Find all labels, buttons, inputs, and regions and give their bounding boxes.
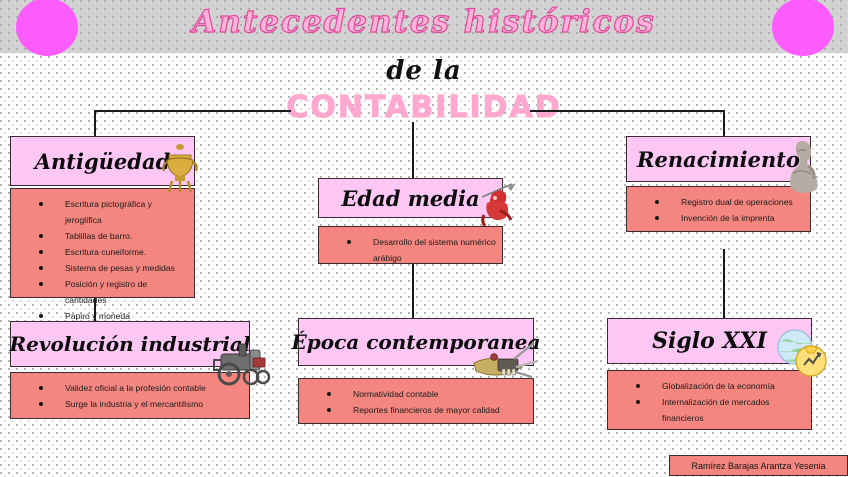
list-item: Tablillas de barro. bbox=[39, 228, 190, 244]
node-revolucion-industrial-header: Revolución industrial bbox=[10, 321, 250, 367]
node-renacimiento-list: Registro dual de operaciones Invención d… bbox=[637, 194, 806, 226]
node-siglo-xxi-header: Siglo XXI bbox=[607, 318, 812, 364]
connector-right-vertical-bottom bbox=[723, 249, 725, 318]
connector-right-vertical-top bbox=[723, 110, 725, 136]
node-edad-media-title: Edad media bbox=[341, 188, 479, 209]
node-renacimiento-header: Renacimiento bbox=[626, 136, 811, 182]
node-siglo-xxi-title: Siglo XXI bbox=[652, 330, 767, 352]
list-item: Invención de la imprenta bbox=[655, 210, 806, 226]
node-siglo-xxi: Siglo XXI Globalización de la economía I… bbox=[607, 318, 812, 430]
list-item: Escritura pictográfica y jeroglífica bbox=[39, 196, 190, 228]
page-title: Antecedentes históricos bbox=[0, 4, 848, 40]
list-item: Normatividad contable bbox=[327, 386, 529, 402]
node-revolucion-industrial: Revolución industrial Validez oficial a … bbox=[10, 321, 250, 419]
node-revolucion-industrial-body: Validez oficial a la profesión contable … bbox=[10, 372, 250, 419]
list-item: Validez oficial a la profesión contable bbox=[39, 380, 245, 396]
node-edad-media-list: Desarrollo del sistema numérico arábigo bbox=[329, 234, 498, 266]
connector-top-left-horizontal bbox=[94, 110, 291, 112]
list-item: Surge la industria y el mercantilismo bbox=[39, 396, 245, 412]
node-edad-media: Edad media Desarrollo del sistema numéri… bbox=[318, 178, 503, 264]
node-siglo-xxi-body: Globalización de la economía Internaliza… bbox=[607, 370, 812, 430]
connector-center-vertical-top bbox=[412, 122, 414, 178]
node-edad-media-header: Edad media bbox=[318, 178, 503, 218]
subtitle-contabilidad: CONTABILIDAD bbox=[0, 90, 848, 125]
node-revolucion-industrial-list: Validez oficial a la profesión contable … bbox=[21, 380, 245, 412]
list-item: Desarrollo del sistema numérico arábigo bbox=[347, 234, 498, 266]
node-epoca-contemporanea-list: Normatividad contable Reportes financier… bbox=[309, 386, 529, 418]
node-edad-media-body: Desarrollo del sistema numérico arábigo bbox=[318, 226, 503, 264]
connector-left-vertical-top bbox=[94, 110, 96, 136]
list-item: Posición y registro de cantidades bbox=[39, 276, 190, 308]
node-epoca-contemporanea-body: Normatividad contable Reportes financier… bbox=[298, 378, 534, 424]
list-item: Internalización de mercados financieros bbox=[636, 394, 807, 426]
subtitle-de-la: de la bbox=[0, 56, 848, 86]
node-renacimiento-title: Renacimiento bbox=[637, 149, 800, 170]
node-antiguedad-body: Escritura pictográfica y jeroglífica Tab… bbox=[10, 188, 195, 298]
list-item: Sistema de pesas y medidas bbox=[39, 260, 190, 276]
node-siglo-xxi-list: Globalización de la economía Internaliza… bbox=[618, 378, 807, 426]
node-renacimiento-body: Registro dual de operaciones Invención d… bbox=[626, 186, 811, 232]
node-antiguedad-header: Antigüedad bbox=[10, 136, 195, 186]
author-credit: Ramírez Barajas Arantza Yesenia bbox=[669, 455, 848, 476]
node-epoca-contemporanea: Época contemporanea Normatividad contabl… bbox=[298, 318, 534, 424]
node-revolucion-industrial-title: Revolución industrial bbox=[10, 334, 251, 354]
node-epoca-contemporanea-title: Época contemporanea bbox=[292, 332, 541, 352]
node-antiguedad: Antigüedad Escritura pictográfica y jero… bbox=[10, 136, 195, 298]
list-item: Globalización de la economía bbox=[636, 378, 807, 394]
node-antiguedad-list: Escritura pictográfica y jeroglífica Tab… bbox=[21, 196, 190, 324]
list-item: Reportes financieros de mayor calidad bbox=[327, 402, 529, 418]
node-epoca-contemporanea-header: Época contemporanea bbox=[298, 318, 534, 366]
list-item: Registro dual de operaciones bbox=[655, 194, 806, 210]
node-renacimiento: Renacimiento Registro dual de operacione… bbox=[626, 136, 811, 232]
node-antiguedad-title: Antigüedad bbox=[35, 151, 171, 172]
list-item: Escritura cuneiforme. bbox=[39, 244, 190, 260]
connector-top-right-horizontal bbox=[530, 110, 723, 112]
